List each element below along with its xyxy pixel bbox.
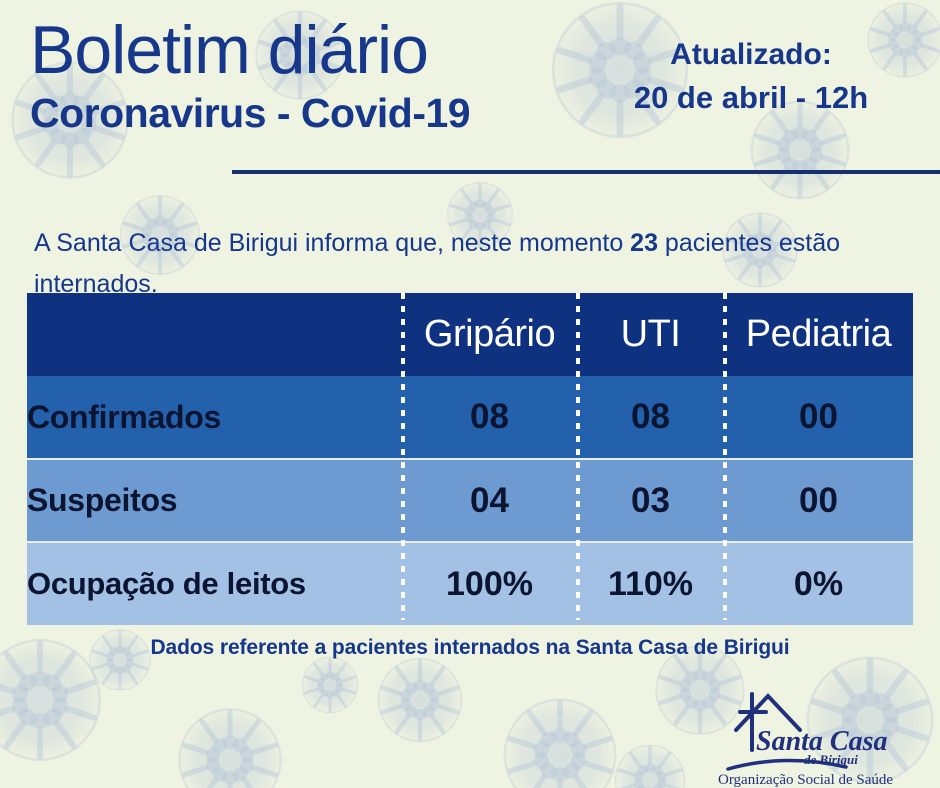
column-header-blank xyxy=(27,293,402,376)
occupancy-table: Gripário UTI Pediatria Confirmados 08 08… xyxy=(27,293,913,625)
cell-confirmados-gripario: 08 xyxy=(402,376,577,459)
title-block: Boletim diário Coronavirus - Covid-19 xyxy=(30,16,470,136)
page-subtitle: Coronavirus - Covid-19 xyxy=(30,91,470,136)
poster-canvas: Boletim diário Coronavirus - Covid-19 At… xyxy=(0,0,940,788)
update-block: Atualizado: 20 de abril - 12h xyxy=(586,38,916,116)
table-row: Ocupação de leitos 100% 110% 0% xyxy=(27,542,913,625)
column-header-gripario: Gripário xyxy=(402,293,577,376)
update-label: Atualizado: xyxy=(586,38,916,73)
cell-ocupacao-pediatria: 0% xyxy=(724,542,913,625)
cell-confirmados-uti: 08 xyxy=(577,376,724,459)
column-header-uti: UTI xyxy=(577,293,724,376)
poster-header: Boletim diário Coronavirus - Covid-19 At… xyxy=(0,0,940,185)
cell-ocupacao-uti: 110% xyxy=(577,542,724,625)
logo-tagline: Organização Social de Saúde xyxy=(718,772,893,788)
page-title: Boletim diário xyxy=(30,16,470,85)
row-label-suspeitos: Suspeitos xyxy=(27,459,402,542)
cell-ocupacao-gripario: 100% xyxy=(402,542,577,625)
cell-suspeitos-gripario: 04 xyxy=(402,459,577,542)
update-date: 20 de abril - 12h xyxy=(586,79,916,116)
table-head: Gripário UTI Pediatria xyxy=(27,293,913,376)
cell-suspeitos-pediatria: 00 xyxy=(724,459,913,542)
table-body: Confirmados 08 08 00 Suspeitos 04 03 00 … xyxy=(27,376,913,625)
table-row: Suspeitos 04 03 00 xyxy=(27,459,913,542)
cell-confirmados-pediatria: 00 xyxy=(724,376,913,459)
cell-suspeitos-uti: 03 xyxy=(577,459,724,542)
intro-patient-count: 23 xyxy=(630,229,658,257)
footer-note: Dados referente a pacientes internados n… xyxy=(0,636,940,660)
column-header-pediatria: Pediatria xyxy=(724,293,913,376)
santa-casa-logo: Santa Casa de Birigui Organização Social… xyxy=(700,684,932,788)
intro-text-before: A Santa Casa de Birigui informa que, nes… xyxy=(34,229,630,257)
logo-city: de Birigui xyxy=(804,752,858,767)
header-divider-rule xyxy=(232,170,940,174)
row-label-ocupacao-de-leitos: Ocupação de leitos xyxy=(27,542,402,625)
table-header-row: Gripário UTI Pediatria xyxy=(27,293,913,376)
table-row: Confirmados 08 08 00 xyxy=(27,376,913,459)
row-label-confirmados: Confirmados xyxy=(27,376,402,459)
